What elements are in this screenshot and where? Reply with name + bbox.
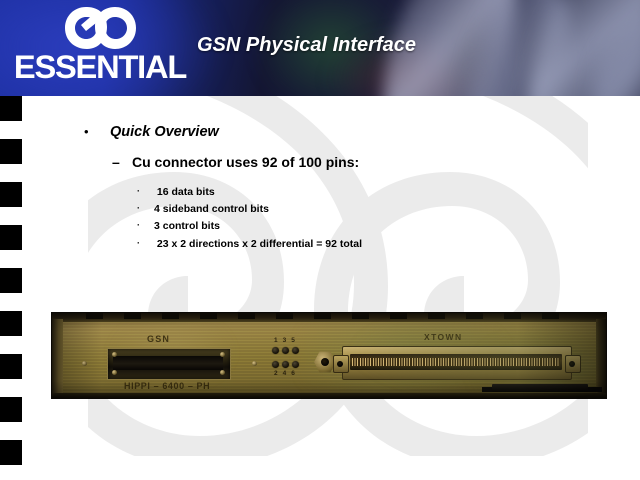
bullet-level3-label: 23 x 2 directions x 2 differential = 92 … <box>154 238 362 250</box>
faceplate-top-rail <box>52 313 606 322</box>
status-led <box>272 361 279 368</box>
slide-canvas: ESSENTIAL GSN Physical Interface •Quick … <box>0 0 640 480</box>
slide-body: •Quick Overview –Cu connector uses 92 of… <box>0 96 640 480</box>
bullet-marker-level3: · <box>137 186 154 196</box>
status-led <box>292 347 299 354</box>
page-title: GSN Physical Interface <box>197 33 617 57</box>
faceplate-right-flange <box>596 319 606 395</box>
led-label-top: 1 3 5 <box>274 337 296 344</box>
faceplate-left-flange <box>52 319 63 395</box>
bullet-level3: ·4 sideband control bits <box>137 203 269 215</box>
infinity-loops-icon <box>64 6 138 54</box>
bullet-level1: •Quick Overview <box>84 124 219 140</box>
silkscreen-xtown-label: XTOWN <box>424 332 462 342</box>
brand-logo: ESSENTIAL <box>8 2 192 94</box>
bullet-level3-label: 16 data bits <box>154 186 215 198</box>
bullet-level2-label: Cu connector uses 92 of 100 pins: <box>132 154 359 170</box>
gsn-connector-slot <box>113 356 223 370</box>
status-led <box>272 347 279 354</box>
bullet-marker-level3: · <box>137 203 154 213</box>
bullet-level2: –Cu connector uses 92 of 100 pins: <box>112 154 359 170</box>
bullet-level1-label: Quick Overview <box>110 124 219 140</box>
slide-header-band: ESSENTIAL GSN Physical Interface <box>0 0 640 96</box>
bullet-marker-level2: – <box>112 154 132 170</box>
xtown-connector-shroud <box>350 354 562 370</box>
xtown-connector <box>342 346 572 380</box>
xtown-connector-pins <box>352 358 560 366</box>
status-led <box>282 361 289 368</box>
bullet-marker-level3: · <box>137 220 154 230</box>
faceplate-handle <box>492 384 588 392</box>
led-label-bottom: 2 4 6 <box>274 370 296 377</box>
status-led <box>292 361 299 368</box>
faceplate-bottom-rail <box>52 393 606 398</box>
status-led <box>282 347 289 354</box>
bullet-level3-label: 4 sideband control bits <box>154 203 269 215</box>
bullet-marker-level3: · <box>137 238 154 248</box>
bullet-level3-label: 3 control bits <box>154 220 220 232</box>
brand-wordmark: ESSENTIAL <box>6 50 194 84</box>
gsn-connector-receptacle <box>107 348 231 380</box>
bullet-level3: · 23 x 2 directions x 2 differential = 9… <box>137 238 362 250</box>
hardware-faceplate-photo: GSN HIPPI – 6400 – PH XTOWN 1 3 5 2 4 6 <box>52 313 606 398</box>
bullet-level3: · 16 data bits <box>137 186 215 198</box>
bullet-marker-level1: • <box>84 124 110 139</box>
silkscreen-part-number: HIPPI – 6400 – PH <box>124 381 210 391</box>
bullet-level3: ·3 control bits <box>137 220 220 232</box>
silkscreen-gsn-label: GSN <box>147 334 170 344</box>
